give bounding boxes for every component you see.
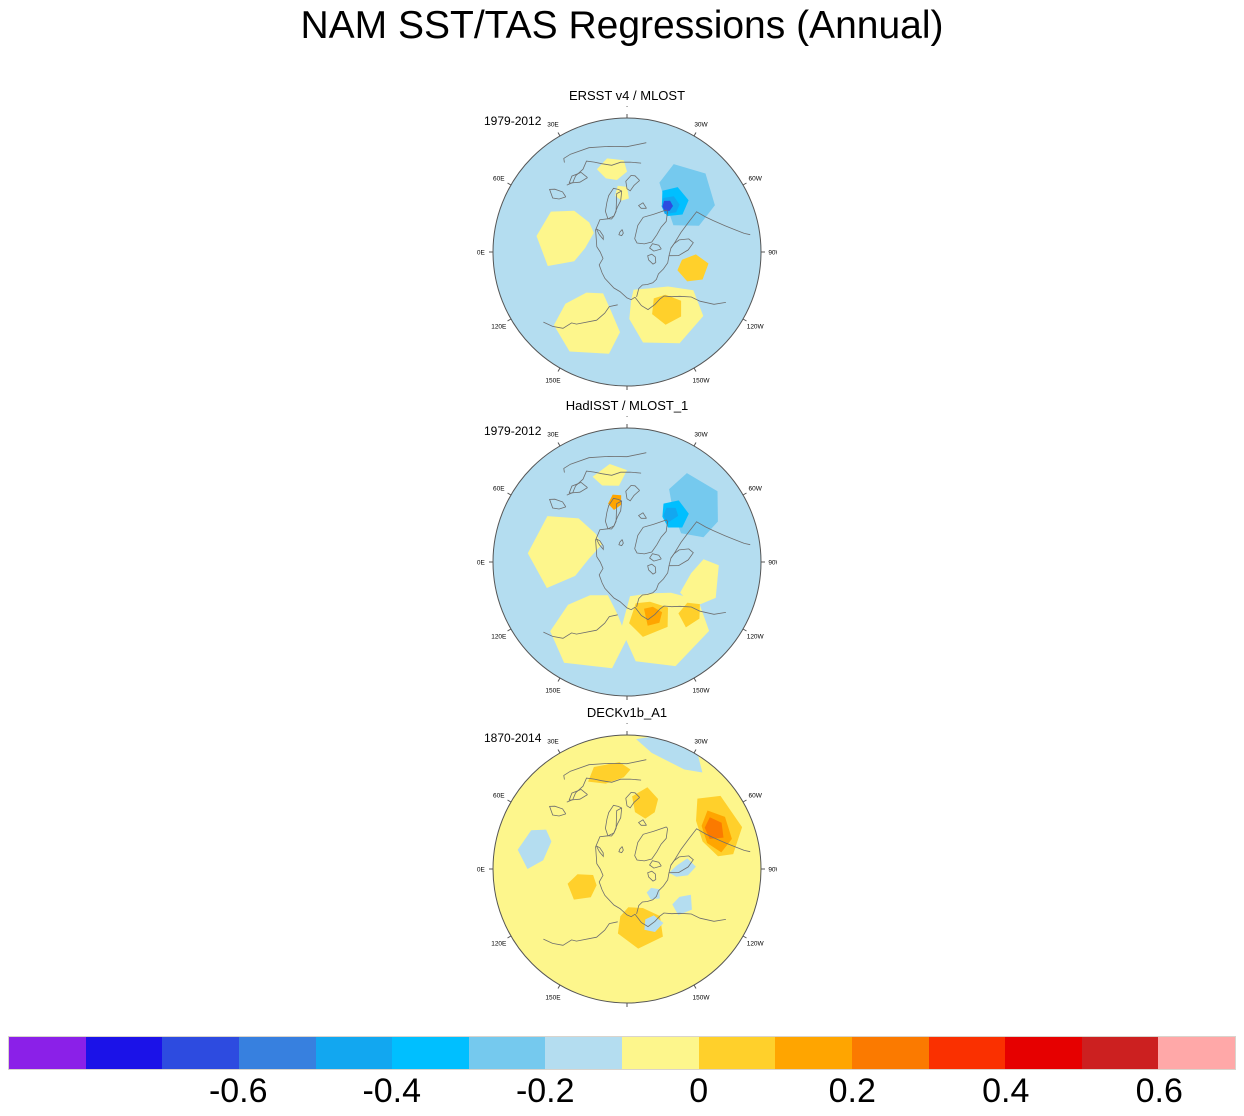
longitude-label: 60E [493, 176, 505, 183]
colorbar-cell [316, 1037, 393, 1069]
longitude-label: 30W [694, 431, 708, 438]
longitude-label: 150W [693, 688, 711, 695]
longitude-label: 120W [747, 941, 765, 948]
longitude-tick [743, 936, 747, 938]
colorbar-cell [775, 1037, 852, 1069]
longitude-tick [694, 750, 696, 754]
map-plot: 180150E120E90E60E30E030W60W90W120W150W [477, 723, 777, 1015]
longitude-tick [743, 183, 747, 185]
longitude-label: 90E [477, 560, 485, 567]
panel-title: ERSST v4 / MLOST [462, 88, 792, 103]
polar-stereographic-map: 180150E120E90E60E30E030W60W90W120W150W [477, 416, 777, 708]
colorbar-cell [929, 1037, 1006, 1069]
colorbar-cell [239, 1037, 316, 1069]
longitude-tick [743, 493, 747, 495]
longitude-label: 150E [545, 378, 561, 385]
longitude-tick [743, 800, 747, 802]
colorbar-tick-labels: -0.6-0.4-0.200.20.40.6 [0, 1072, 1244, 1116]
colorbar-cell [469, 1037, 546, 1069]
colorbar-tick-label: 0.2 [829, 1072, 876, 1111]
longitude-label: 90E [477, 867, 485, 874]
longitude-label: 150E [545, 995, 561, 1002]
longitude-tick [743, 629, 747, 631]
longitude-label: 60E [493, 486, 505, 493]
colorbar-cell [392, 1037, 469, 1069]
longitude-tick [558, 133, 560, 137]
longitude-label: 150E [545, 688, 561, 695]
longitude-tick [558, 750, 560, 754]
longitude-tick [508, 319, 512, 321]
longitude-label: 30W [694, 738, 708, 745]
longitude-label: 120E [491, 941, 507, 948]
longitude-tick [694, 678, 696, 682]
longitude-label: 90W [768, 250, 777, 257]
longitude-label: 90W [768, 560, 777, 567]
page-title: NAM SST/TAS Regressions (Annual) [0, 4, 1244, 48]
longitude-tick [508, 183, 512, 185]
panel-title: DECKv1b_A1 [462, 705, 792, 720]
colorbar-cell [86, 1037, 163, 1069]
longitude-label: 120E [491, 324, 507, 331]
longitude-label: 60W [749, 486, 763, 493]
colorbar-tick-label: 0.6 [1136, 1072, 1183, 1111]
map-plot: 180150E120E90E60E30E030W60W90W120W150W [477, 416, 777, 708]
map-plot: 180150E120E90E60E30E030W60W90W120W150W [477, 106, 777, 398]
longitude-label: 0 [625, 416, 629, 419]
longitude-label: 60W [749, 793, 763, 800]
colorbar-cell [545, 1037, 622, 1069]
colorbar-cell [852, 1037, 929, 1069]
longitude-label: 60E [493, 793, 505, 800]
longitude-tick [558, 443, 560, 447]
colorbar-tick-label: 0 [689, 1072, 708, 1111]
colorbar-tick-label: -0.4 [362, 1072, 421, 1111]
longitude-label: 90E [477, 250, 485, 257]
longitude-label: 30W [694, 121, 708, 128]
longitude-tick [743, 319, 747, 321]
longitude-tick [694, 443, 696, 447]
colorbar-tick-label: -0.2 [516, 1072, 575, 1111]
colorbar-cell [622, 1037, 699, 1069]
longitude-label: 30E [547, 121, 559, 128]
longitude-tick [558, 985, 560, 989]
longitude-label: 30E [547, 738, 559, 745]
panel-title: HadISST / MLOST_1 [462, 398, 792, 413]
colorbar-cell [1082, 1037, 1159, 1069]
polar-stereographic-map: 180150E120E90E60E30E030W60W90W120W150W [477, 106, 777, 398]
longitude-label: 150W [693, 995, 711, 1002]
longitude-tick [694, 133, 696, 137]
longitude-tick [694, 368, 696, 372]
longitude-tick [558, 368, 560, 372]
longitude-tick [508, 800, 512, 802]
longitude-tick [508, 936, 512, 938]
colorbar-cell [162, 1037, 239, 1069]
longitude-label: 120W [747, 324, 765, 331]
longitude-label: 90W [768, 867, 777, 874]
longitude-tick [508, 493, 512, 495]
colorbar-tick-label: 0.4 [982, 1072, 1029, 1111]
longitude-label: 0 [625, 106, 629, 109]
longitude-label: 30E [547, 431, 559, 438]
colorbar-cell [9, 1037, 86, 1069]
longitude-label: 0 [625, 723, 629, 726]
colorbar-cell [1005, 1037, 1082, 1069]
colorbar-cell [699, 1037, 776, 1069]
longitude-label: 120E [491, 634, 507, 641]
longitude-tick [558, 678, 560, 682]
colorbar [8, 1036, 1236, 1070]
colorbar-cell [1158, 1037, 1235, 1069]
longitude-label: 150W [693, 378, 711, 385]
base-field [493, 735, 761, 1003]
longitude-label: 180 [622, 1015, 633, 1016]
base-field [493, 118, 761, 386]
longitude-label: 60W [749, 176, 763, 183]
longitude-tick [694, 985, 696, 989]
colorbar-tick-label: -0.6 [209, 1072, 268, 1111]
polar-stereographic-map: 180150E120E90E60E30E030W60W90W120W150W [477, 723, 777, 1015]
longitude-tick [508, 629, 512, 631]
longitude-label: 120W [747, 634, 765, 641]
